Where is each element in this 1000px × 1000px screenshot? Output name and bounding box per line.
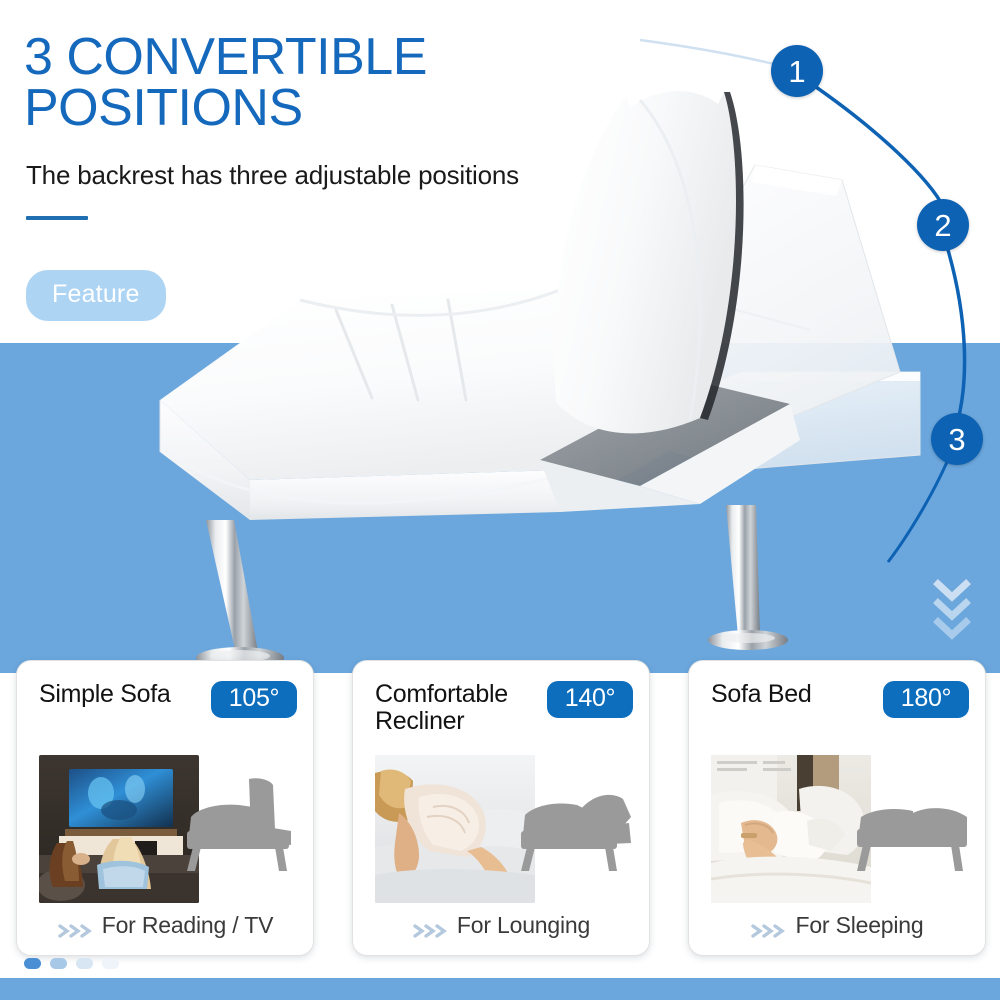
pager-dot-1[interactable] <box>24 958 41 969</box>
card-caption-text: For Reading / TV <box>102 912 274 939</box>
pager-dots[interactable] <box>24 958 119 969</box>
sofa-leg-front <box>196 520 284 669</box>
product-illustration <box>0 0 1000 690</box>
infographic-canvas: 3 CONVERTIBLE POSITIONS The backrest has… <box>0 0 1000 1000</box>
pager-dot-4[interactable] <box>102 958 119 969</box>
angle-badge: 180° <box>883 681 969 718</box>
angle-badge: 105° <box>211 681 297 718</box>
triple-chevron-icon <box>750 918 786 934</box>
card-title: Sofa Bed <box>711 681 886 708</box>
card-title: Comfortable Recliner <box>375 681 550 735</box>
position-card-simple-sofa[interactable]: Simple Sofa 105° <box>16 660 314 956</box>
scroll-down-chevrons-icon <box>930 578 974 640</box>
callout-badge-3[interactable]: 3 <box>931 413 983 465</box>
sofa-flat-silhouette-icon <box>855 769 971 877</box>
angle-badge: 140° <box>547 681 633 718</box>
triple-chevron-icon <box>412 918 448 934</box>
card-caption-text: For Lounging <box>457 912 590 939</box>
card-caption: For Sleeping <box>689 912 985 939</box>
position-card-comfortable-recliner[interactable]: Comfortable Recliner 140° <box>352 660 650 956</box>
callout-badge-1[interactable]: 1 <box>771 45 823 97</box>
callout-leader-line <box>640 40 782 66</box>
sofa-reclined-silhouette-icon <box>519 769 635 877</box>
callout-badge-2[interactable]: 2 <box>917 199 969 251</box>
card-photo-sleeping <box>711 755 871 903</box>
pager-dot-2[interactable] <box>50 958 67 969</box>
sofa-leg-rear <box>708 505 788 650</box>
card-caption: For Reading / TV <box>17 912 313 939</box>
card-title: Simple Sofa <box>39 681 214 708</box>
card-photo-reading-tv <box>39 755 199 903</box>
card-caption: For Lounging <box>353 912 649 939</box>
position-card-sofa-bed[interactable]: Sofa Bed 180° <box>688 660 986 956</box>
position-cards: Simple Sofa 105° <box>0 660 1000 960</box>
triple-chevron-icon <box>57 918 93 934</box>
backrest-position-upright <box>554 77 743 433</box>
sofa-upright-silhouette-icon <box>183 769 299 877</box>
bottom-blue-bar <box>0 978 1000 1000</box>
card-caption-text: For Sleeping <box>795 912 923 939</box>
pager-dot-3[interactable] <box>76 958 93 969</box>
card-photo-lounging <box>375 755 535 903</box>
